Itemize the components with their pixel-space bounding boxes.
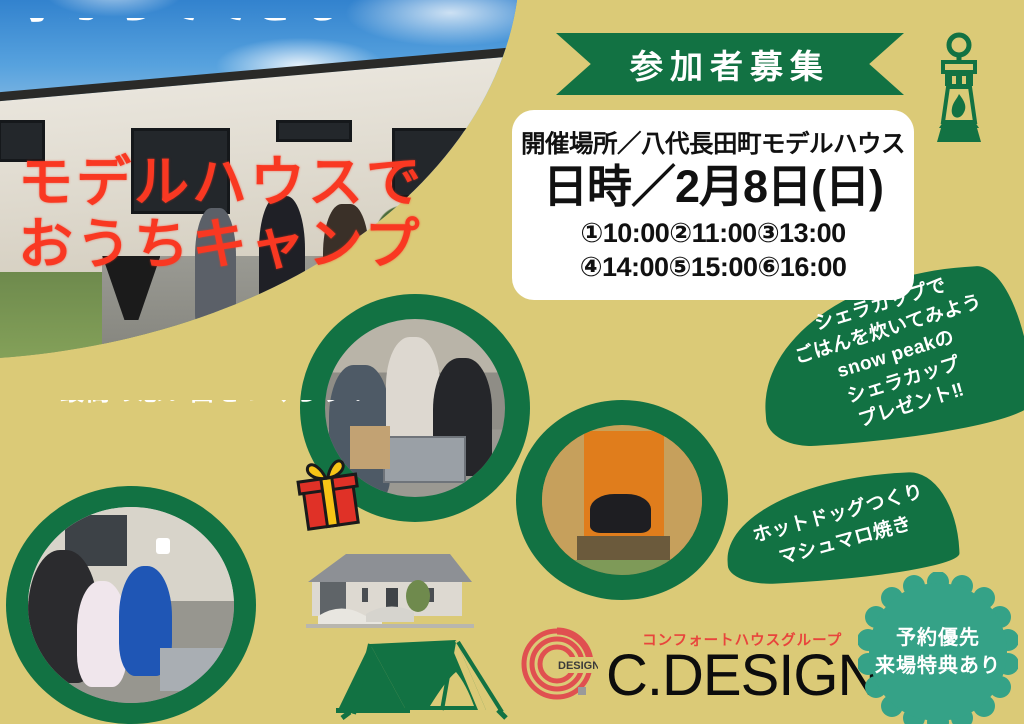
lantern-icon: [921, 30, 997, 148]
badge-face: 予約優先 来場特典あり: [869, 583, 1007, 721]
fire-pit: [383, 436, 466, 483]
cdesign-mark-icon: DESIGN: [520, 627, 598, 705]
window: [276, 120, 352, 142]
child: [590, 494, 651, 533]
event-date: 日時／2月8日(日): [543, 162, 883, 212]
event-info-card: 開催場所／八代長田町モデルハウス 日時／2月8日(日) ①10:00②11:00…: [512, 110, 914, 300]
badge-line-1: 予約優先: [896, 624, 980, 652]
status-badge: 予約優先 来場特典あり: [858, 572, 1018, 724]
ground: [542, 560, 702, 575]
badge-line-2: 来場特典あり: [875, 652, 1001, 680]
fire-pit: [160, 648, 230, 691]
mattress: [577, 536, 670, 563]
event-times-line-1: ①10:00②11:00③13:00: [580, 216, 845, 251]
tent-photo: [516, 400, 728, 600]
title-line-2: おうちキャンプ: [18, 214, 424, 276]
hotdog-leaf: ホットドッグつくり マシュマロ焼き: [723, 470, 960, 586]
ribbon-label: 参加者募集: [630, 40, 830, 88]
title-line-1: モデルハウスで: [18, 152, 424, 214]
recruit-ribbon: 参加者募集: [556, 33, 904, 95]
marshmallow: [156, 538, 170, 554]
family-photo: [6, 486, 256, 724]
gift-icon: [292, 456, 366, 532]
logo-title: C.DESIGN: [606, 648, 878, 704]
event-times-line-2: ④14:00⑤15:00⑥16:00: [580, 250, 847, 285]
event-place: 開催場所／八代長田町モデルハウス: [521, 125, 905, 160]
flyer-canvas: 手ぶらでできる モデルハウスで おうちキャンプ 参加者募集 開催場所／八代長田町…: [0, 0, 1024, 724]
house-icon: [300, 538, 480, 634]
page-title: モデルハウスで おうちキャンプ: [18, 152, 424, 275]
mark-label: DESIGN: [558, 660, 598, 672]
brand-logo[interactable]: DESIGN コンフォートハウスグループ C.DESIGN: [520, 624, 870, 708]
tent-icon: [326, 628, 516, 724]
